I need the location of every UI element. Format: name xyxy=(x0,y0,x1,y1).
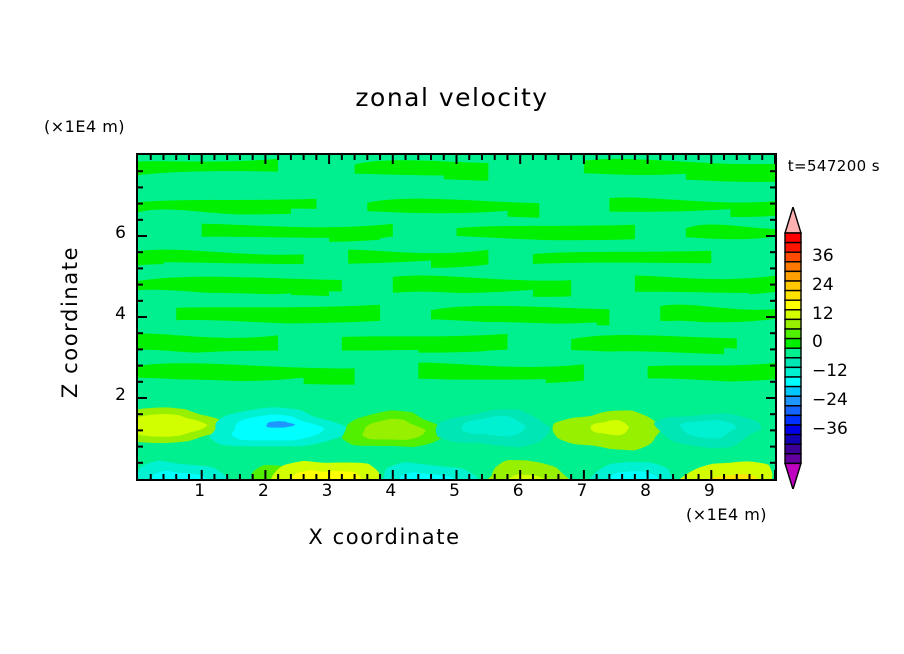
colorbar-band xyxy=(785,387,801,397)
colorbar-swatches xyxy=(783,207,805,489)
y-tick-label: 6 xyxy=(96,223,126,243)
axis-tick-marks xyxy=(136,153,777,481)
colorbar-tick-label: 12 xyxy=(812,304,834,324)
colorbar-band xyxy=(785,329,801,339)
colorbar-under-range-arrow xyxy=(785,463,801,489)
colorbar-band xyxy=(785,377,801,387)
colorbar-band xyxy=(785,454,801,464)
x-tick-label: 2 xyxy=(248,481,278,501)
y-axis-title: Z coordinate xyxy=(58,222,82,422)
x-tick-label: 9 xyxy=(694,481,724,501)
colorbar-band xyxy=(785,319,801,329)
colorbar-band xyxy=(785,310,801,320)
y-tick-label: 2 xyxy=(96,385,126,405)
colorbar-band xyxy=(785,271,801,281)
x-axis-title: X coordinate xyxy=(0,525,769,549)
colorbar-band xyxy=(785,243,801,253)
x-tick-label: 5 xyxy=(440,481,470,501)
y-axis-unit-label: (×1E4 m) xyxy=(44,117,125,136)
colorbar-tick-label: 36 xyxy=(812,246,834,266)
x-tick-label: 6 xyxy=(503,481,533,501)
colorbar-tick-label: 24 xyxy=(812,275,834,295)
colorbar-band xyxy=(785,262,801,272)
colorbar-band xyxy=(785,415,801,425)
x-tick-label: 4 xyxy=(376,481,406,501)
x-tick-label: 1 xyxy=(185,481,215,501)
x-tick-label: 3 xyxy=(312,481,342,501)
y-tick-label: 4 xyxy=(96,304,126,324)
time-stamp-label: t=547200 s xyxy=(788,157,880,175)
x-axis-unit-label: (×1E4 m) xyxy=(686,505,767,524)
colorbar-band xyxy=(785,348,801,358)
colorbar-band xyxy=(785,425,801,435)
colorbar-band xyxy=(785,252,801,262)
colorbar-band xyxy=(785,367,801,377)
page-title: zonal velocity xyxy=(0,83,904,112)
colorbar-tick-label: 0 xyxy=(812,332,823,352)
colorbar[interactable] xyxy=(783,207,805,489)
colorbar-tick-label: −12 xyxy=(812,361,848,381)
colorbar-band xyxy=(785,435,801,445)
x-tick-label: 8 xyxy=(631,481,661,501)
colorbar-band xyxy=(785,444,801,454)
colorbar-band xyxy=(785,396,801,406)
colorbar-band xyxy=(785,300,801,310)
colorbar-band xyxy=(785,291,801,301)
colorbar-band xyxy=(785,339,801,349)
colorbar-tick-label: −36 xyxy=(812,419,848,439)
x-tick-label: 7 xyxy=(567,481,597,501)
colorbar-band xyxy=(785,406,801,416)
colorbar-band xyxy=(785,233,801,243)
colorbar-tick-label: −24 xyxy=(812,390,848,410)
colorbar-over-range-arrow xyxy=(785,207,801,233)
colorbar-band xyxy=(785,358,801,368)
colorbar-band xyxy=(785,281,801,291)
